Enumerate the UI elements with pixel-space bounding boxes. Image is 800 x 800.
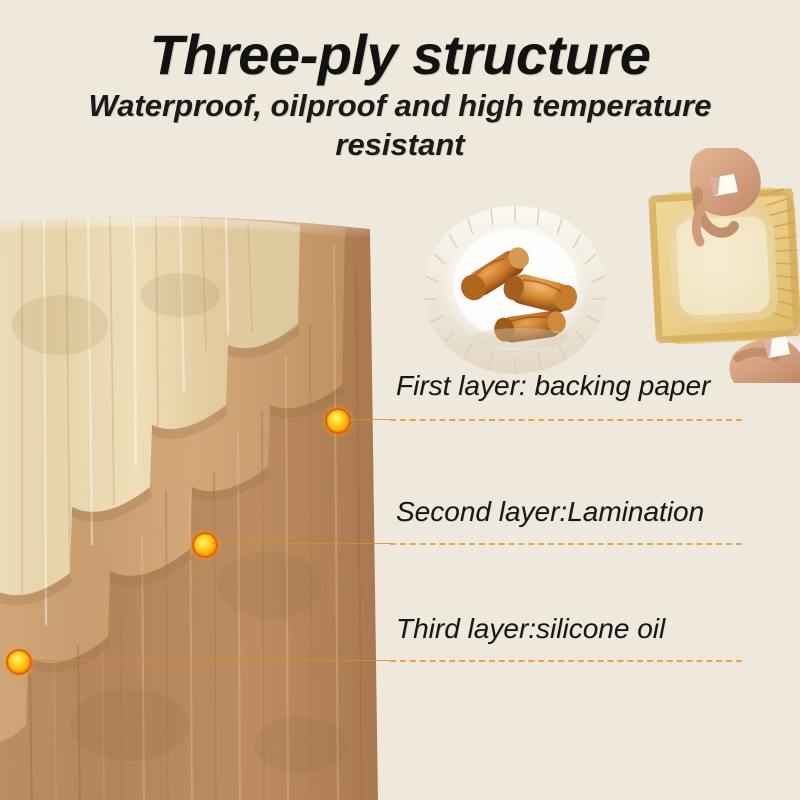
paper-stack-illustration <box>0 205 440 800</box>
callout-label-first-layer: First layer: backing paper <box>396 370 710 402</box>
leader-line-first-layer <box>345 419 393 420</box>
marker-dot-third-layer[interactable] <box>6 649 32 675</box>
marker-dot-first-layer[interactable] <box>325 408 351 434</box>
dashed-line-third-layer <box>390 660 742 662</box>
callout-label-third-layer: Third layer:silicone oil <box>396 613 665 645</box>
page-title: Three-ply structure <box>0 26 800 83</box>
leader-line-third-layer <box>26 660 392 661</box>
callout-label-second-layer: Second layer:Lamination <box>396 496 704 528</box>
heading-block: Three-ply structure Waterproof, oilproof… <box>0 26 800 164</box>
air-fryer-liner-with-fried-chicken-image <box>420 198 610 380</box>
hands-holding-square-paper-liner-image <box>638 148 800 383</box>
dashed-line-second-layer <box>390 543 742 545</box>
leader-line-second-layer <box>212 543 392 544</box>
hands-illustration <box>638 148 800 383</box>
marker-dot-second-layer[interactable] <box>192 532 218 558</box>
bowl-illustration <box>420 198 610 380</box>
infographic-canvas: Three-ply structure Waterproof, oilproof… <box>0 0 800 800</box>
dashed-line-first-layer <box>390 419 742 421</box>
pleated-kraft-paper-layers-image <box>0 205 440 800</box>
